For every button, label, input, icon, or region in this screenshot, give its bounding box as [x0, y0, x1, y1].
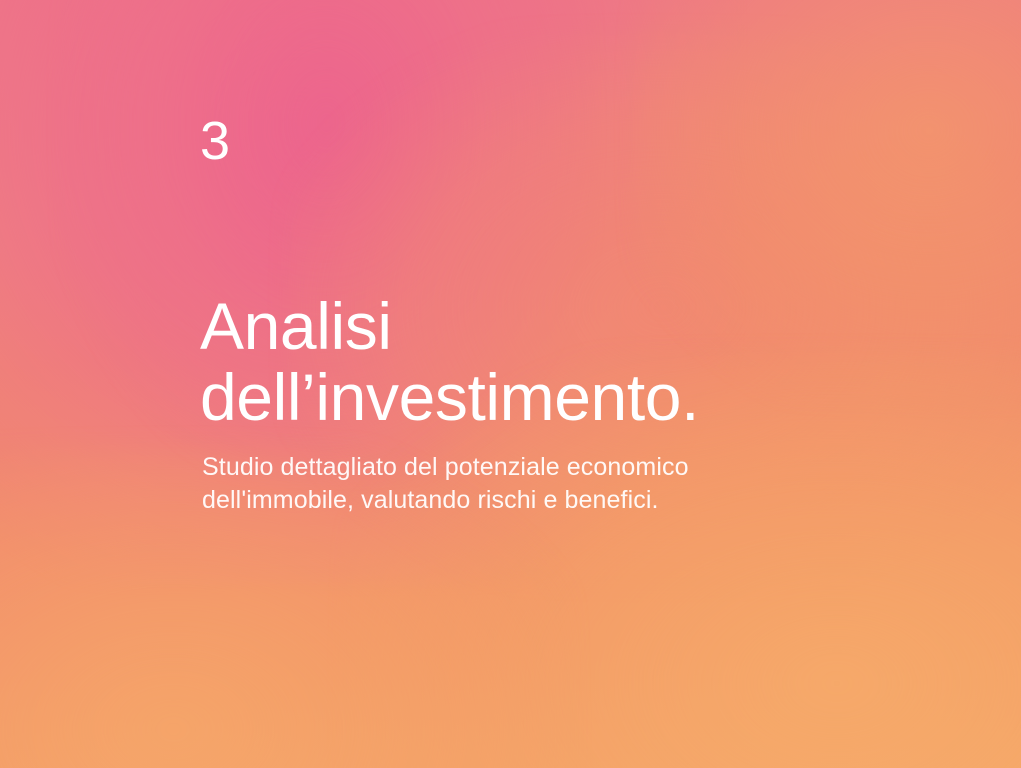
slide-title: Analisi dell’investimento. [200, 291, 880, 434]
slide-subtitle: Studio dettagliato del potenziale econom… [202, 451, 822, 516]
slide-content: 3 Analisi dell’investimento. Studio dett… [200, 0, 900, 768]
section-number: 3 [200, 114, 231, 168]
presentation-slide: 3 Analisi dell’investimento. Studio dett… [0, 0, 1021, 768]
